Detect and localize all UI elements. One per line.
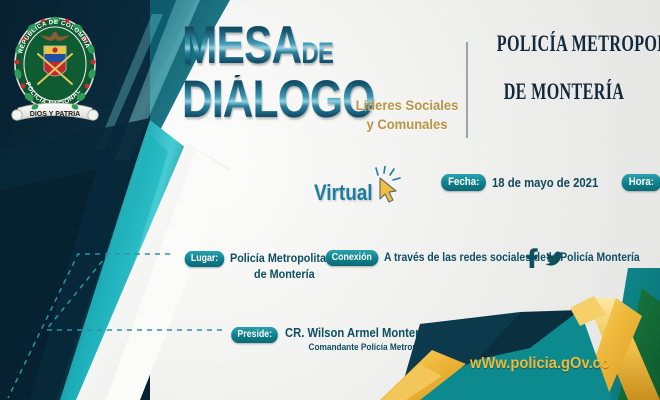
schedule-row: Fecha: 18 de mayo de 2021 Hora: 09:00 a.… <box>438 174 660 191</box>
chair-badge: Preside: <box>231 327 278 343</box>
date-value: 18 de mayo de 2021 <box>492 175 598 190</box>
place-badge: Lugar: <box>185 251 225 267</box>
audience-line-1: Líderes Sociales <box>347 96 468 115</box>
unit-title-line-1: POLICÍA METROPOLITANA <box>497 32 631 55</box>
date-badge: Fecha: <box>441 174 486 191</box>
virtual-label: Virtual <box>314 180 373 206</box>
audience-line-2: y Comunales <box>347 115 468 134</box>
title-line-mesa: MESADE <box>182 22 398 71</box>
emblem-motto: DIOS Y PATRIA <box>30 111 80 118</box>
connection-row: Conexión A través de las redes sociales … <box>322 250 660 266</box>
connection-badge: Conexión <box>326 250 378 266</box>
time-badge: Hora: <box>621 174 660 191</box>
mouse-cursor-icon <box>372 166 402 204</box>
poster-canvas: REPUBLICA DE COLOMBIA POLICIA NACIONAL D… <box>0 0 660 400</box>
dashed-connectors <box>0 220 320 400</box>
unit-title-line-2: DE MONTERÍA <box>497 80 631 103</box>
unit-title-block: POLICÍA METROPOLITANA DE MONTERÍA <box>468 32 660 103</box>
bottom-right-ribbons <box>380 268 660 400</box>
title-mesa-word: MESA <box>182 16 301 75</box>
connection-value: A través de las redes sociales de la Pol… <box>384 252 640 264</box>
place-line-2: de Montería <box>254 267 315 281</box>
website-url[interactable]: wWw.policia.gOv.co <box>470 355 610 373</box>
title-de-word: DE <box>301 37 333 70</box>
audience-label: Líderes Sociales y Comunales <box>347 96 468 134</box>
police-emblem: REPUBLICA DE COLOMBIA POLICIA NACIONAL D… <box>8 12 102 130</box>
